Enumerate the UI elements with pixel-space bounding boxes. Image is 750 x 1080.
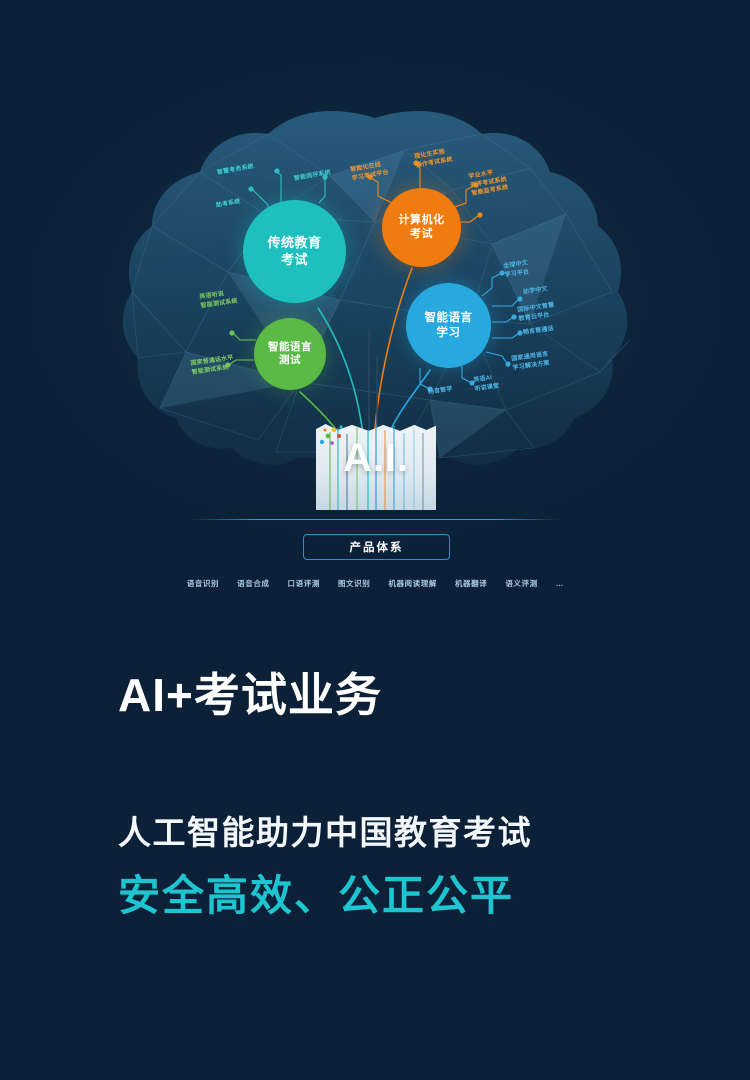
bubble-label: 智能语言 学习	[425, 311, 473, 340]
subheadline: 人工智能助力中国教育考试	[118, 816, 678, 849]
leaf-label-english-ai-listening-speaking-class[interactable]: 英语AI 听说课堂	[473, 373, 500, 394]
confetti-icon	[316, 424, 346, 450]
bubble-label: 智能语言 测试	[268, 341, 312, 367]
tech-tag[interactable]: 口语评测	[288, 578, 320, 589]
tech-tag[interactable]: 语义评测	[505, 578, 537, 589]
tech-tag-ellipsis: …	[556, 579, 564, 588]
bubble-smart-language-testing[interactable]: 智能语言 测试	[254, 318, 326, 390]
tech-tag[interactable]: 语音合成	[237, 578, 269, 589]
page-title: AI+考试业务	[118, 672, 678, 718]
brain-tree-diagram: 传统教育 考试 计算机化 考试 智能语言 学习 智能语言 测试 智慧考务系统 智…	[0, 0, 750, 630]
bubble-smart-language-learning[interactable]: 智能语言 学习	[406, 283, 491, 368]
bubble-traditional-exam[interactable]: 传统教育 考试	[243, 200, 346, 303]
tech-tag-list: 语音识别 语音合成 口语评测 图文识别 机器阅读理解 机器翻译 语义评测 …	[0, 578, 750, 589]
ai-book-logo: A.I.	[316, 424, 436, 510]
leaf-label-global-chinese-learning-platform[interactable]: 全球中文 学习平台	[503, 259, 530, 280]
bubble-computerized-exam[interactable]: 计算机化 考试	[382, 188, 461, 267]
tech-tag[interactable]: 语音识别	[187, 578, 219, 589]
tech-tag[interactable]: 机器阅读理解	[388, 578, 437, 589]
tech-tag[interactable]: 图文识别	[338, 578, 370, 589]
product-system-label: 产品体系	[350, 539, 404, 555]
copy-block: AI+考试业务 人工智能助力中国教育考试 安全高效、公正公平	[118, 672, 678, 917]
product-system-button[interactable]: 产品体系	[303, 534, 450, 560]
bubble-label: 传统教育 考试	[267, 235, 321, 268]
divider-line	[190, 519, 560, 520]
tech-tag[interactable]: 机器翻译	[455, 578, 487, 589]
poster-page: 传统教育 考试 计算机化 考试 智能语言 学习 智能语言 测试 智慧考务系统 智…	[0, 0, 750, 1080]
bubble-label: 计算机化 考试	[399, 214, 445, 242]
tagline: 安全高效、公正公平	[118, 875, 678, 917]
